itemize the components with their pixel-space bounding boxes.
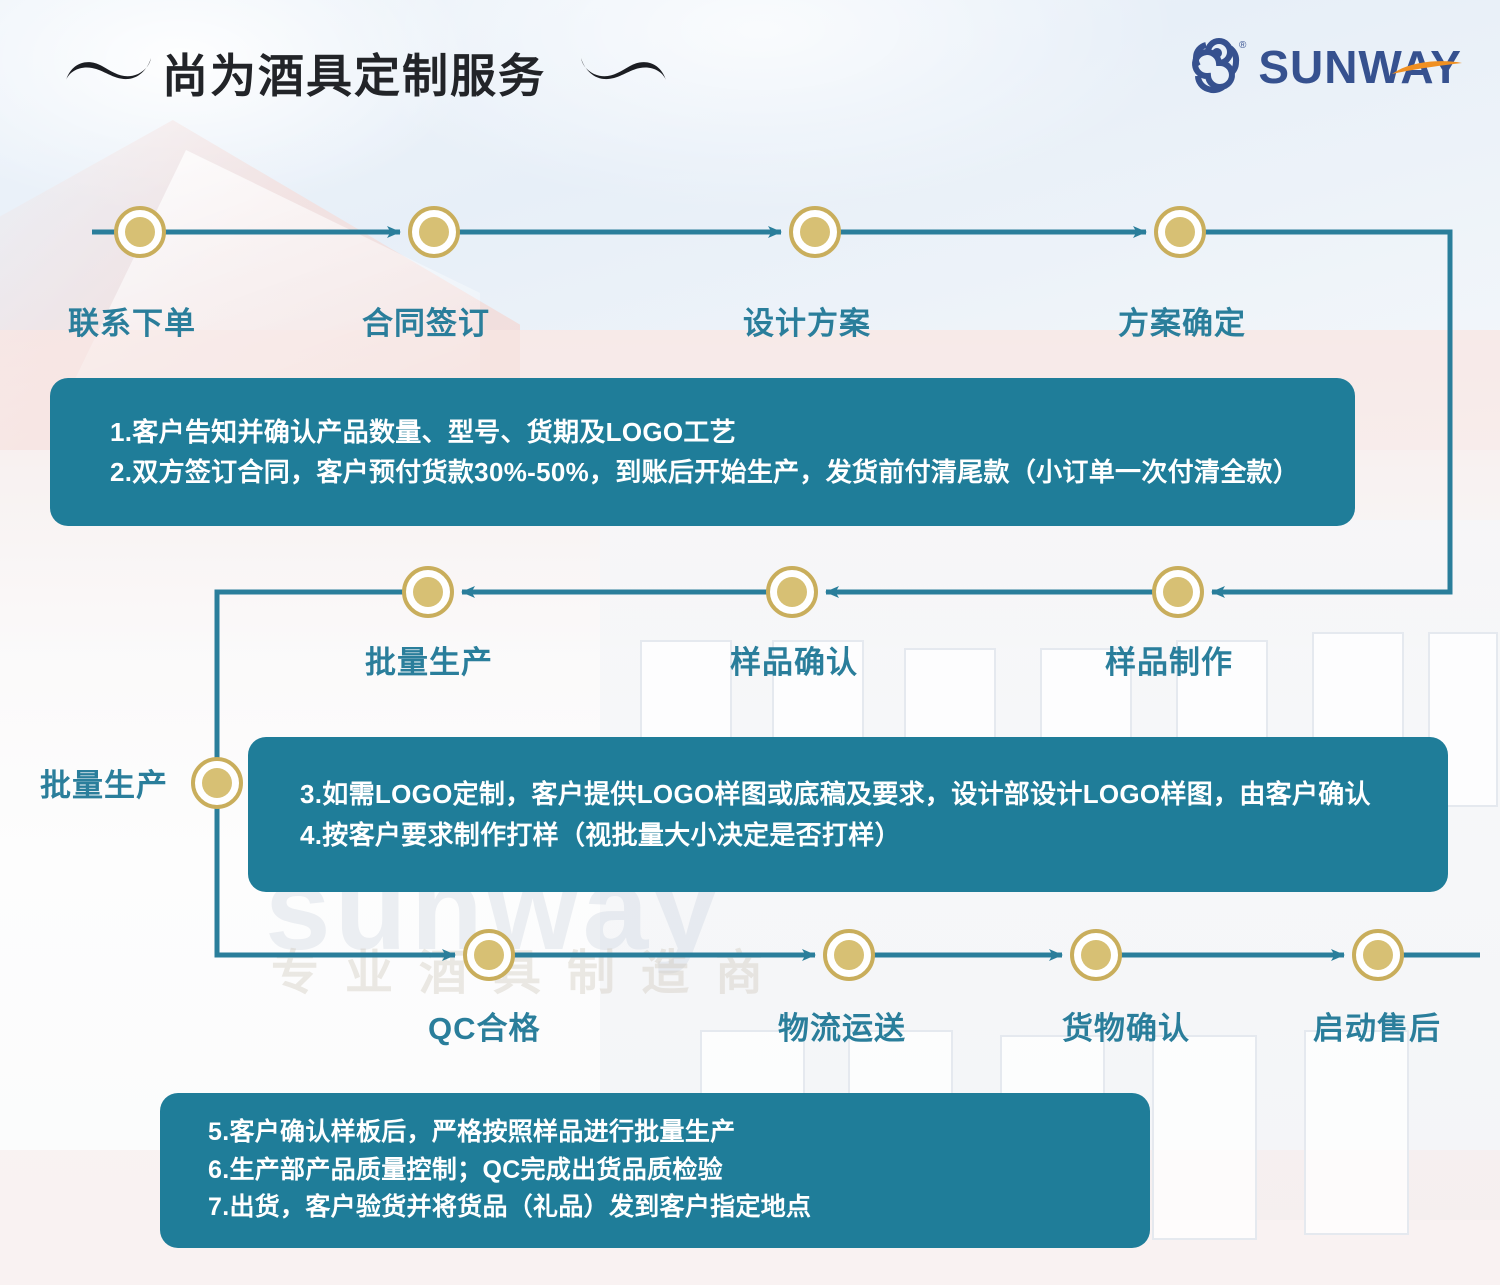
- sunway-knot-icon: ®: [1186, 36, 1248, 98]
- logo-swoosh-icon: [1390, 58, 1464, 78]
- registered-mark: ®: [1239, 40, 1247, 51]
- info-line: 6.生产部产品质量控制；QC完成出货品质检验: [186, 1152, 1124, 1190]
- flow-label-contact-order: 联系下单: [68, 298, 196, 343]
- flow-label-after-sales: 启动售后: [1313, 1003, 1441, 1048]
- info-box-production-delivery: 5.客户确认样板后，严格按照样品进行批量生产 6.生产部产品质量控制；QC完成出…: [160, 1093, 1150, 1248]
- flow-label-contract-signing: 合同签订: [362, 298, 490, 343]
- info-line: 4.按客户要求制作打样（视批量大小决定是否打样）: [274, 815, 1422, 855]
- flourish-right-icon: [578, 50, 670, 96]
- logo-wordmark: SUNWAY: [1258, 44, 1462, 90]
- info-line: 3.如需LOGO定制，客户提供LOGO样图或底稿及要求，设计部设计LOGO样图，…: [274, 774, 1422, 814]
- info-box-contract: 1.客户告知并确认产品数量、型号、货期及LOGO工艺 2.双方签订合同，客户预付…: [50, 378, 1355, 526]
- company-logo: ® SUNWAY: [1186, 36, 1462, 98]
- flow-label-mass-production-side: 批量生产: [40, 760, 168, 805]
- flow-label-goods-confirm: 货物确认: [1062, 1003, 1190, 1048]
- flourish-left-icon: [62, 50, 154, 96]
- flow-label-logistics: 物流运送: [778, 1003, 906, 1048]
- flow-label-design-plan: 设计方案: [743, 298, 871, 343]
- info-box-logo-sample: 3.如需LOGO定制，客户提供LOGO样图或底稿及要求，设计部设计LOGO样图，…: [248, 737, 1448, 892]
- flow-label-sample-making: 样品制作: [1105, 637, 1233, 682]
- info-line: 5.客户确认样板后，严格按照样品进行批量生产: [186, 1114, 1124, 1152]
- page-title: 尚为酒具定制服务: [162, 40, 546, 106]
- info-line: 2.双方签订合同，客户预付货款30%-50%，到账后开始生产，发货前付清尾款（小…: [66, 452, 1329, 492]
- flow-label-qc-pass: QC合格: [428, 1003, 541, 1048]
- flow-label-plan-confirm: 方案确定: [1118, 298, 1246, 343]
- info-line: 7.出货，客户验货并将货品（礼品）发到客户指定地点: [186, 1189, 1124, 1227]
- info-line: 1.客户告知并确认产品数量、型号、货期及LOGO工艺: [66, 412, 1329, 452]
- flow-label-mass-production-top: 批量生产: [365, 637, 493, 682]
- flow-label-sample-confirm: 样品确认: [730, 637, 858, 682]
